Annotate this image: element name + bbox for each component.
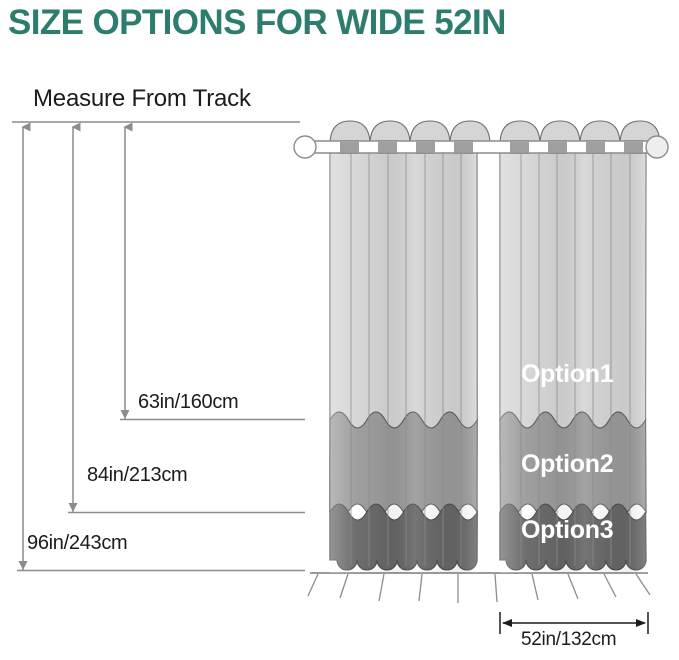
arrow-down-icon: [69, 503, 78, 512]
option-label-1: Option1: [521, 360, 613, 389]
dimension-label-84in: 84in/213cm: [87, 464, 187, 487]
rod-finial-right: [646, 136, 668, 158]
option-label-3: Option3: [521, 516, 613, 545]
arrow-down-icon: [19, 561, 28, 570]
dimension-label-52in: 52in/132cm: [521, 629, 616, 651]
height-dimension-lines: [17, 127, 305, 571]
rod-finial-left: [294, 136, 316, 158]
dimension-label-96in: 96in/243cm: [27, 532, 127, 555]
dimension-label-63in: 63in/160cm: [138, 391, 238, 414]
floor-hatch-icon: [308, 573, 650, 603]
diagram-canvas: [0, 0, 679, 660]
option-label-2: Option2: [521, 450, 613, 479]
size-options-infographic: SIZE OPTIONS FOR WIDE 52IN Measure From …: [0, 0, 679, 660]
curtain-panel-right: [500, 121, 660, 573]
curtain-panel-left: [330, 121, 490, 573]
arrow-down-icon: [121, 410, 130, 419]
